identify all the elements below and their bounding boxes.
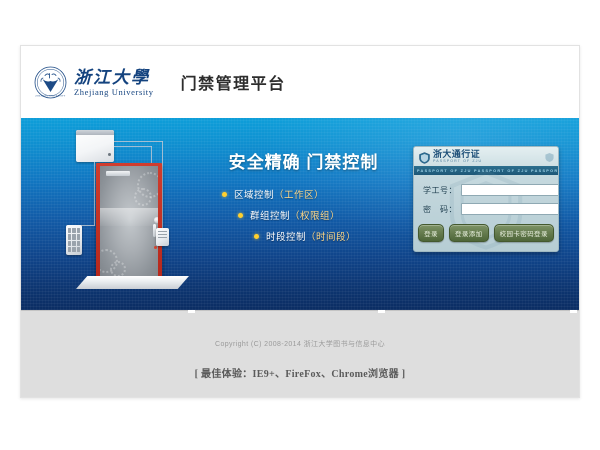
form-row-id: 学工号： bbox=[422, 184, 550, 196]
copyright-text: Copyright (C) 2008-2014 浙江大学图书与信息中心 bbox=[215, 339, 385, 349]
access-control-illustration bbox=[48, 118, 200, 310]
bullet-icon bbox=[222, 192, 227, 197]
feature-label-main: 区域控制 bbox=[234, 187, 274, 201]
zju-seal-icon: ZHEJIANG UNIVERSITY bbox=[34, 66, 67, 99]
wire-controller-to-closer bbox=[114, 146, 152, 147]
wire-controller-to-keypad bbox=[94, 162, 95, 226]
logo-text-block: 浙江大學 Zhejiang University bbox=[74, 68, 154, 97]
login-panel-title-block: 浙大通行证 PASSPORT OF ZJU bbox=[433, 150, 482, 164]
shield-icon bbox=[419, 151, 430, 163]
keypad-reader-icon bbox=[66, 225, 82, 255]
login-panel-title: 浙大通行证 bbox=[433, 150, 482, 159]
login-button-row: 登录 登录添加 校园卡密码登录 bbox=[422, 224, 550, 242]
site-header: ZHEJIANG UNIVERSITY 浙江大學 Zhejiang Univer… bbox=[21, 46, 579, 118]
feature-item-area: 区域控制 （工作区） bbox=[206, 187, 401, 201]
university-logo[interactable]: ZHEJIANG UNIVERSITY 浙江大學 Zhejiang Univer… bbox=[34, 66, 154, 99]
security-door-icon bbox=[96, 163, 162, 279]
seam-tab bbox=[570, 310, 577, 313]
login-panel-header: 浙大通行证 PASSPORT OF ZJU bbox=[414, 147, 558, 166]
site-footer: Copyright (C) 2008-2014 浙江大学图书与信息中心 [ 最佳… bbox=[21, 310, 579, 397]
seam-tab bbox=[378, 310, 385, 313]
login-panel-subtitle: PASSPORT OF ZJU bbox=[433, 160, 482, 164]
logo-name-en: Zhejiang University bbox=[74, 87, 154, 97]
shield-watermark-icon bbox=[545, 150, 554, 161]
feature-label-main: 时段控制 bbox=[266, 229, 306, 243]
login-add-button[interactable]: 登录添加 bbox=[449, 224, 489, 242]
door-knob-icon bbox=[154, 217, 158, 223]
password-label: 密 码： bbox=[422, 204, 457, 215]
feature-item-timeslot: 时段控制 （时间段） bbox=[206, 229, 401, 243]
logo-name-cn: 浙江大學 bbox=[74, 68, 154, 87]
banner-slogan: 安全精确 门禁控制 bbox=[206, 148, 401, 173]
login-panel: 浙大通行证 PASSPORT OF ZJU PASSPORT OF ZJU PA… bbox=[413, 146, 559, 252]
controller-led-icon bbox=[108, 153, 111, 156]
login-form: 学工号： 密 码： 登录 登录添加 校园卡密码登录 bbox=[414, 175, 558, 251]
door-closer-icon bbox=[106, 171, 130, 176]
campus-card-login-button[interactable]: 校园卡密码登录 bbox=[494, 224, 554, 242]
door-status-led-icon bbox=[154, 246, 157, 249]
gear-decoration-icon bbox=[134, 188, 152, 206]
keypad-grid bbox=[68, 228, 80, 252]
bullet-icon bbox=[254, 234, 259, 239]
login-button[interactable]: 登录 bbox=[418, 224, 444, 242]
student-staff-id-input[interactable] bbox=[461, 184, 559, 196]
form-row-password: 密 码： bbox=[422, 203, 550, 215]
password-input[interactable] bbox=[461, 203, 559, 215]
feature-label-main: 群组控制 bbox=[250, 208, 290, 222]
gear-decoration-icon bbox=[110, 261, 126, 277]
login-panel-strip: PASSPORT OF ZJU PASSPORT OF ZJU PASSPORT… bbox=[414, 166, 558, 175]
seam-tab bbox=[188, 310, 195, 313]
browser-support-note: [ 最佳体验：IE9+、FireFox、Chrome浏览器 ] bbox=[195, 365, 406, 380]
feature-label-sub: （时间段） bbox=[306, 229, 356, 243]
svg-text:ZHEJIANG UNIVERSITY: ZHEJIANG UNIVERSITY bbox=[35, 94, 65, 97]
feature-label-sub: （权限组） bbox=[290, 208, 340, 222]
page-title: 门禁管理平台 bbox=[181, 70, 286, 94]
bullet-icon bbox=[238, 213, 243, 218]
door-leaf bbox=[100, 166, 158, 277]
wire-controller-to-door-top bbox=[114, 141, 163, 142]
page-container: ZHEJIANG UNIVERSITY 浙江大學 Zhejiang Univer… bbox=[20, 45, 580, 398]
card-reader-icon bbox=[156, 228, 169, 246]
floor-plate bbox=[76, 276, 189, 289]
student-staff-id-label: 学工号： bbox=[422, 185, 457, 196]
access-controller-box-icon bbox=[76, 130, 114, 162]
feature-list: 区域控制 （工作区） 群组控制 （权限组） 时段控制 （时间段） bbox=[206, 187, 401, 243]
feature-label-sub: （工作区） bbox=[274, 187, 324, 201]
banner-copy: 安全精确 门禁控制 区域控制 （工作区） 群组控制 （权限组） 时段控制 （时间… bbox=[206, 148, 401, 250]
hero-banner: 安全精确 门禁控制 区域控制 （工作区） 群组控制 （权限组） 时段控制 （时间… bbox=[21, 118, 579, 310]
feature-item-group: 群组控制 （权限组） bbox=[206, 208, 401, 222]
door-sheen bbox=[100, 208, 158, 226]
wire-down-to-reader bbox=[162, 141, 163, 229]
